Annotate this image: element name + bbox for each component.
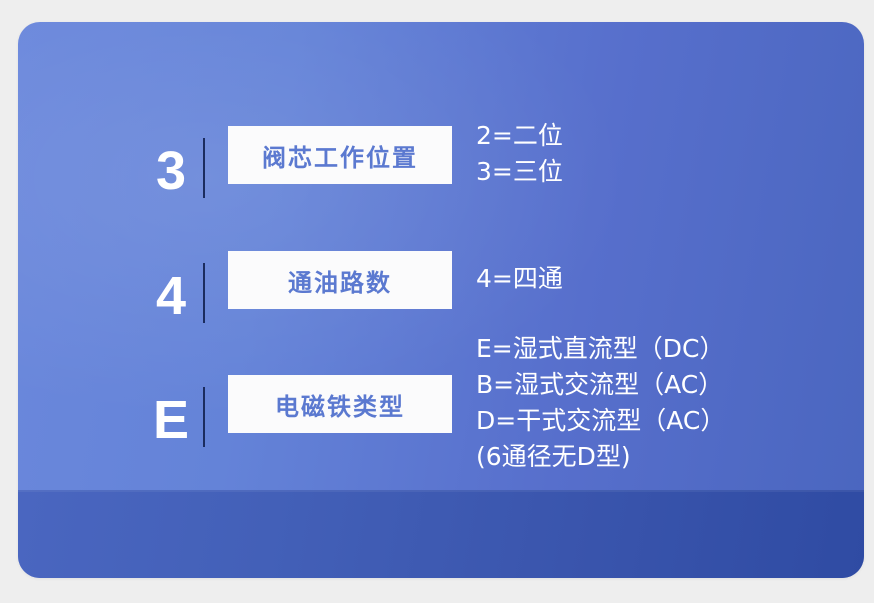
- description-line: B=湿式交流型（AC）: [476, 367, 725, 403]
- code-letter-row-1: 3: [140, 144, 202, 198]
- description-line: 4=四通: [476, 261, 563, 297]
- code-letter-row-3: E: [140, 393, 202, 447]
- spec-row-oil-passages: 4 通油路数 4=四通: [18, 247, 864, 349]
- description-line: E=湿式直流型（DC）: [476, 331, 725, 367]
- description-line: 3=三位: [476, 154, 563, 190]
- label-text-row-3: 电磁铁类型: [275, 387, 405, 422]
- description-row-2: 4=四通: [476, 261, 563, 297]
- label-text-row-2: 通油路数: [288, 263, 392, 298]
- infographic-stage: 3 阀芯工作位置 2=二位 3=三位 4 通油路数 4=四通 E: [0, 0, 874, 603]
- description-line: (6通径无D型): [476, 439, 725, 475]
- spec-row-valve-position: 3 阀芯工作位置 2=二位 3=三位: [18, 122, 864, 224]
- description-row-3: E=湿式直流型（DC） B=湿式交流型（AC） D=干式交流型（AC） (6通径…: [476, 331, 725, 475]
- card-bottom-band: [18, 490, 864, 578]
- row-divider-3: [203, 387, 205, 447]
- description-line: D=干式交流型（AC）: [476, 403, 725, 439]
- row-divider-1: [203, 138, 205, 198]
- label-box-row-3: 电磁铁类型: [228, 375, 452, 433]
- label-box-row-2: 通油路数: [228, 251, 452, 309]
- spec-card: 3 阀芯工作位置 2=二位 3=三位 4 通油路数 4=四通 E: [18, 22, 864, 578]
- description-row-1: 2=二位 3=三位: [476, 118, 563, 190]
- code-letter-row-2: 4: [140, 269, 202, 323]
- label-box-row-1: 阀芯工作位置: [228, 126, 452, 184]
- spec-row-solenoid-type: E 电磁铁类型 E=湿式直流型（DC） B=湿式交流型（AC） D=干式交流型（…: [18, 371, 864, 473]
- description-line: 2=二位: [476, 118, 563, 154]
- row-divider-2: [203, 263, 205, 323]
- label-text-row-1: 阀芯工作位置: [262, 138, 418, 173]
